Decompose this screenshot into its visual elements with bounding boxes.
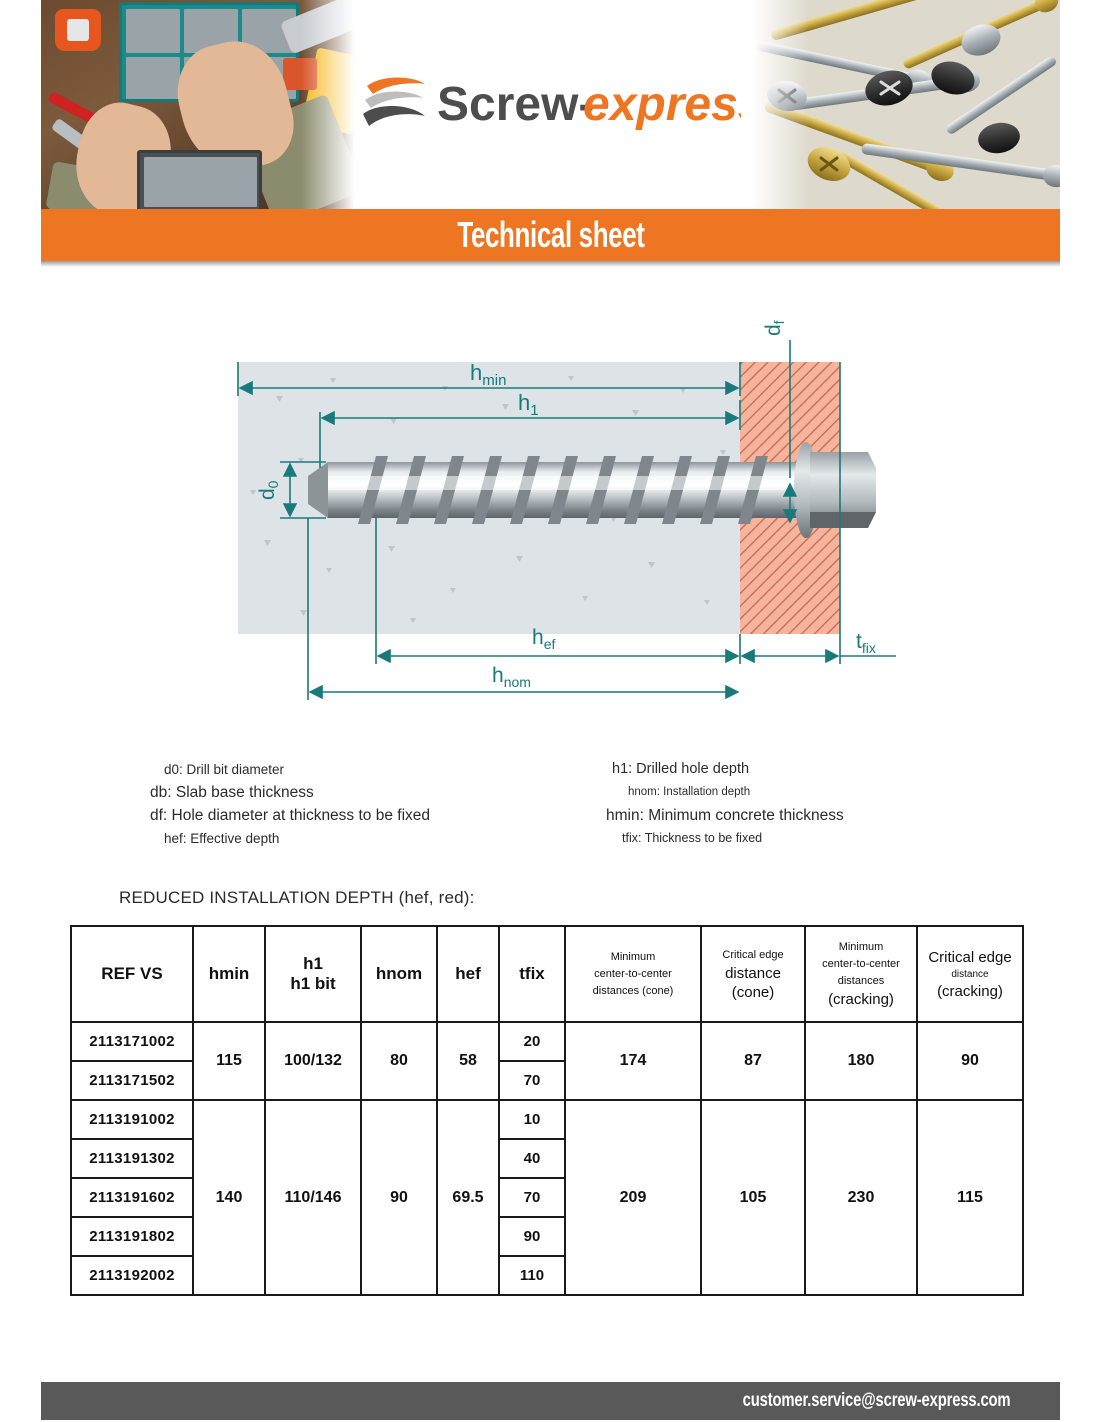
th-h1-line2: h1 bit xyxy=(266,974,360,994)
cell-tfix: 40 xyxy=(499,1139,565,1178)
th-min-cc-crack-l1: Minimum xyxy=(806,939,916,956)
cell-hmin: 140 xyxy=(193,1100,265,1295)
th-h1-line1: h1 xyxy=(266,954,360,974)
cell-min-cc-crack: 180 xyxy=(805,1022,917,1100)
cell-tfix: 20 xyxy=(499,1022,565,1061)
technical-sheet-banner: Technical sheet xyxy=(41,209,1060,261)
logo-svg: Screw- express.com xyxy=(361,68,741,142)
screw-pile-art xyxy=(741,0,1061,209)
legend-item-hmin: hmin: Minimum concrete thickness xyxy=(606,804,1010,827)
th-min-cc-cone-l2: center-to-center xyxy=(566,966,700,983)
legend-column-right: h1: Drilled hole depth hnom: Installatio… xyxy=(580,758,1010,850)
th-crit-crack-l2: distance xyxy=(918,967,1022,982)
cell-ref: 2113191802 xyxy=(71,1217,193,1256)
tape-measure xyxy=(55,9,101,51)
cell-crit-cone: 87 xyxy=(701,1022,805,1100)
cell-h1: 110/146 xyxy=(265,1100,361,1295)
cell-tfix: 10 xyxy=(499,1100,565,1139)
th-crit-cone-l2: distance xyxy=(702,964,804,983)
cell-tfix: 70 xyxy=(499,1178,565,1217)
th-crit-crack-l1: Critical edge xyxy=(918,948,1022,967)
cell-crit-crack: 90 xyxy=(917,1022,1023,1100)
logo-text-dark: Screw- xyxy=(437,78,594,131)
anchor-installation-diagram: hmin h1 d0 df hef hnom tfix xyxy=(180,300,940,730)
th-ref: REF VS xyxy=(71,926,193,1022)
label-hnom: hnom xyxy=(492,664,531,690)
spec-table: REF VS hmin h1 h1 bit hnom hef tfix Mini… xyxy=(70,925,1024,1296)
th-crit-crack-l3: (cracking) xyxy=(918,982,1022,1001)
legend-item-hef: hef: Effective depth xyxy=(150,827,580,850)
th-min-cc-crack: Minimum center-to-center distances (crac… xyxy=(805,926,917,1022)
th-min-cc-crack-l3: distances xyxy=(806,973,916,990)
th-crit-crack: Critical edge distance (cracking) xyxy=(917,926,1023,1022)
cell-crit-crack: 115 xyxy=(917,1100,1023,1295)
label-tfix: tfix xyxy=(856,630,876,656)
cell-crit-cone: 105 xyxy=(701,1100,805,1295)
legend-item-df: df: Hole diameter at thickness to be fix… xyxy=(150,804,580,827)
small-parts-box xyxy=(283,58,317,90)
swoosh-icon xyxy=(363,77,425,126)
cell-ref: 2113171002 xyxy=(71,1022,193,1061)
legend-item-h1: h1: Drilled hole depth xyxy=(606,758,1010,781)
cell-hef: 58 xyxy=(437,1022,499,1100)
th-crit-cone: Critical edge distance (cone) xyxy=(701,926,805,1022)
logo-text-orange: express.com xyxy=(583,78,741,131)
header-photo-workbench xyxy=(41,0,361,209)
header-photo-screws xyxy=(741,0,1061,209)
banner-shadow xyxy=(41,261,1060,267)
legend-column-left: d0: Drill bit diameter db: Slab base thi… xyxy=(150,758,580,850)
cell-ref: 2113191602 xyxy=(71,1178,193,1217)
cell-ref: 2113171502 xyxy=(71,1061,193,1100)
th-min-cc-cone-l3: distances (cone) xyxy=(566,983,700,1000)
cell-hef: 69.5 xyxy=(437,1100,499,1295)
section-title: REDUCED INSTALLATION DEPTH (hef, red): xyxy=(119,888,475,908)
th-hef: hef xyxy=(437,926,499,1022)
table-body: 2113171002 115 100/132 80 58 20 174 87 1… xyxy=(71,1022,1023,1295)
table-row: 2113171002 115 100/132 80 58 20 174 87 1… xyxy=(71,1022,1023,1061)
cell-min-cc-cone: 174 xyxy=(565,1022,701,1100)
page-footer: customer.service@screw-express.com xyxy=(41,1382,1060,1420)
th-min-cc-cone: Minimum center-to-center distances (cone… xyxy=(565,926,701,1022)
cell-min-cc-cone: 209 xyxy=(565,1100,701,1295)
table-row: 2113191002 140 110/146 90 69.5 10 209 10… xyxy=(71,1100,1023,1139)
footer-email[interactable]: customer.service@screw-express.com xyxy=(742,1390,1060,1412)
yellow-tool xyxy=(301,47,360,134)
th-crit-cone-l3: (cone) xyxy=(702,983,804,1002)
th-min-cc-crack-l2: center-to-center xyxy=(806,956,916,973)
cell-min-cc-crack: 230 xyxy=(805,1100,917,1295)
page-header: Screw- express.com xyxy=(41,0,1060,209)
cell-tfix: 110 xyxy=(499,1256,565,1295)
cell-ref: 2113192002 xyxy=(71,1256,193,1295)
cell-ref: 2113191302 xyxy=(71,1139,193,1178)
label-df: df xyxy=(762,320,787,336)
cell-hmin: 115 xyxy=(193,1022,265,1100)
cell-hnom: 90 xyxy=(361,1100,437,1295)
legend: d0: Drill bit diameter db: Slab base thi… xyxy=(150,758,1010,850)
cell-ref: 2113191002 xyxy=(71,1100,193,1139)
diagram-svg: hmin h1 d0 df hef hnom tfix xyxy=(180,300,940,730)
spec-table-container: REF VS hmin h1 h1 bit hnom hef tfix Mini… xyxy=(70,925,1022,1296)
legend-item-hnom: hnom: Installation depth xyxy=(606,781,1010,804)
cell-h1: 100/132 xyxy=(265,1022,361,1100)
cell-hnom: 80 xyxy=(361,1022,437,1100)
th-crit-cone-l1: Critical edge xyxy=(702,947,804,964)
tool-tray-gray xyxy=(137,150,262,209)
th-min-cc-cone-l1: Minimum xyxy=(566,949,700,966)
cell-tfix: 90 xyxy=(499,1217,565,1256)
table-header-row: REF VS hmin h1 h1 bit hnom hef tfix Mini… xyxy=(71,926,1023,1022)
brand-logo: Screw- express.com xyxy=(361,0,741,209)
cell-tfix: 70 xyxy=(499,1061,565,1100)
legend-item-tfix: tfix: Thickness to be fixed xyxy=(606,827,1010,850)
th-tfix: tfix xyxy=(499,926,565,1022)
legend-item-db: db: Slab base thickness xyxy=(150,781,580,804)
th-min-cc-crack-l4: (cracking) xyxy=(806,990,916,1009)
legend-item-d0: d0: Drill bit diameter xyxy=(150,758,580,781)
th-h1: h1 h1 bit xyxy=(265,926,361,1022)
banner-title: Technical sheet xyxy=(457,214,644,256)
th-hnom: hnom xyxy=(361,926,437,1022)
th-hmin: hmin xyxy=(193,926,265,1022)
